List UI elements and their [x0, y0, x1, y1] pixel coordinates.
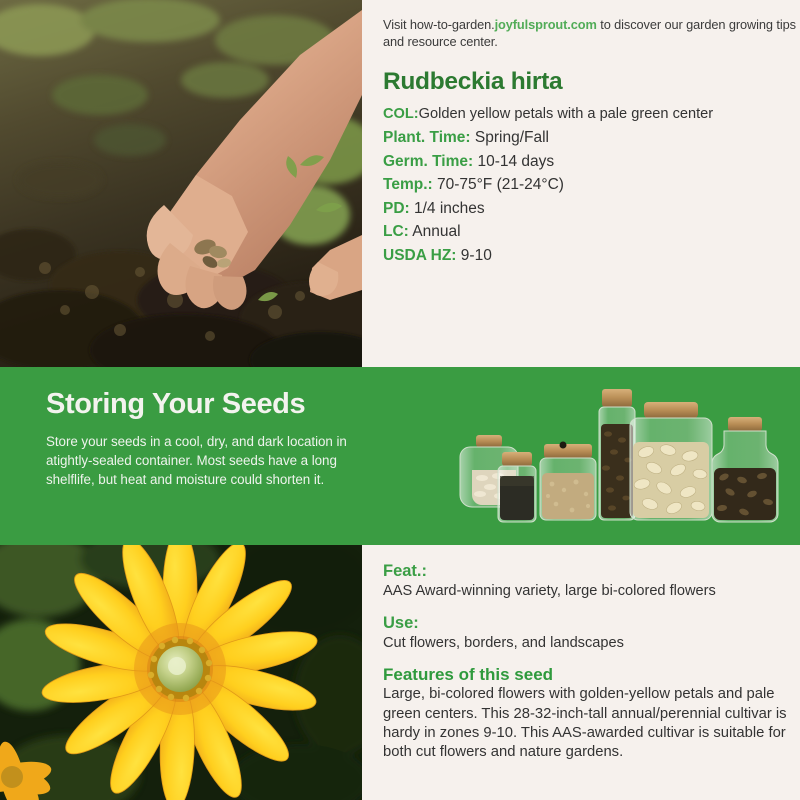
seedling-photo [0, 0, 362, 367]
flower-photo [0, 545, 362, 800]
spec-value-usda-hz: 9-10 [456, 247, 491, 264]
storing-seeds-band: Storing Your Seeds Store your seeds in a… [0, 367, 800, 545]
spec-label-usda-hz: USDA HZ: [383, 247, 456, 264]
storing-title: Storing Your Seeds [46, 390, 376, 419]
spec-row-plant-time: Plant. Time: Spring/Fall [383, 130, 800, 146]
feat-label: Feat.: [383, 562, 794, 580]
seed-jars-photo [452, 372, 800, 542]
feat-block: Feat.: AAS Award-winning variety, large … [383, 562, 794, 601]
visit-line: Visit how-to-garden.joyfulsprout.com to … [383, 16, 798, 51]
feat-value: AAS Award-winning variety, large bi-colo… [383, 582, 794, 601]
species-name: Rudbeckia hirta [383, 68, 800, 96]
spec-value-germ-time: 10-14 days [473, 153, 554, 170]
visit-prefix: Visit how-to-garden. [383, 17, 495, 32]
spec-row-usda-hz: USDA HZ: 9-10 [383, 248, 800, 264]
seed-features-block: Features of this seed Large, bi-colored … [383, 666, 794, 763]
features-panel: Feat.: AAS Award-winning variety, large … [362, 545, 800, 800]
spec-label-plant-time: Plant. Time: [383, 129, 471, 146]
spec-label-col: COL: [383, 106, 419, 122]
storing-body: Store your seeds in a cool, dry, and dar… [46, 432, 376, 489]
spec-label-pd: PD: [383, 200, 410, 217]
use-block: Use: Cut flowers, borders, and landscape… [383, 614, 794, 653]
spec-label-lc: LC: [383, 223, 409, 240]
use-value: Cut flowers, borders, and landscapes [383, 634, 794, 653]
spec-value-col: Golden yellow petals with a pale green c… [419, 106, 713, 122]
spec-label-germ-time: Germ. Time: [383, 153, 473, 170]
spec-value-lc: Annual [409, 223, 461, 240]
spec-row-temp: Temp.: 70-75°F (21-24°C) [383, 177, 800, 193]
seed-features-heading: Features of this seed [383, 666, 794, 685]
spec-label-temp: Temp.: [383, 176, 433, 193]
spec-list: COL:Golden yellow petals with a pale gre… [383, 107, 800, 264]
brand-link[interactable]: joyfulsprout.com [495, 17, 597, 32]
spec-value-temp: 70-75°F (21-24°C) [433, 176, 564, 193]
spec-value-pd: 1/4 inches [410, 200, 485, 217]
spec-value-plant-time: Spring/Fall [471, 129, 549, 146]
storing-text-block: Storing Your Seeds Store your seeds in a… [46, 390, 376, 489]
bottom-section: Feat.: AAS Award-winning variety, large … [0, 545, 800, 800]
plant-info-panel: Visit how-to-garden.joyfulsprout.com to … [362, 0, 800, 367]
spec-row-pd: PD: 1/4 inches [383, 201, 800, 217]
use-label: Use: [383, 614, 794, 632]
seed-features-paragraph: Large, bi-colored flowers with golden-ye… [383, 685, 793, 763]
spec-row-col: COL:Golden yellow petals with a pale gre… [383, 107, 800, 122]
seed-packet-infographic: Visit how-to-garden.joyfulsprout.com to … [0, 0, 800, 800]
top-section: Visit how-to-garden.joyfulsprout.com to … [0, 0, 800, 367]
spec-row-lc: LC: Annual [383, 224, 800, 240]
spec-row-germ-time: Germ. Time: 10-14 days [383, 154, 800, 170]
